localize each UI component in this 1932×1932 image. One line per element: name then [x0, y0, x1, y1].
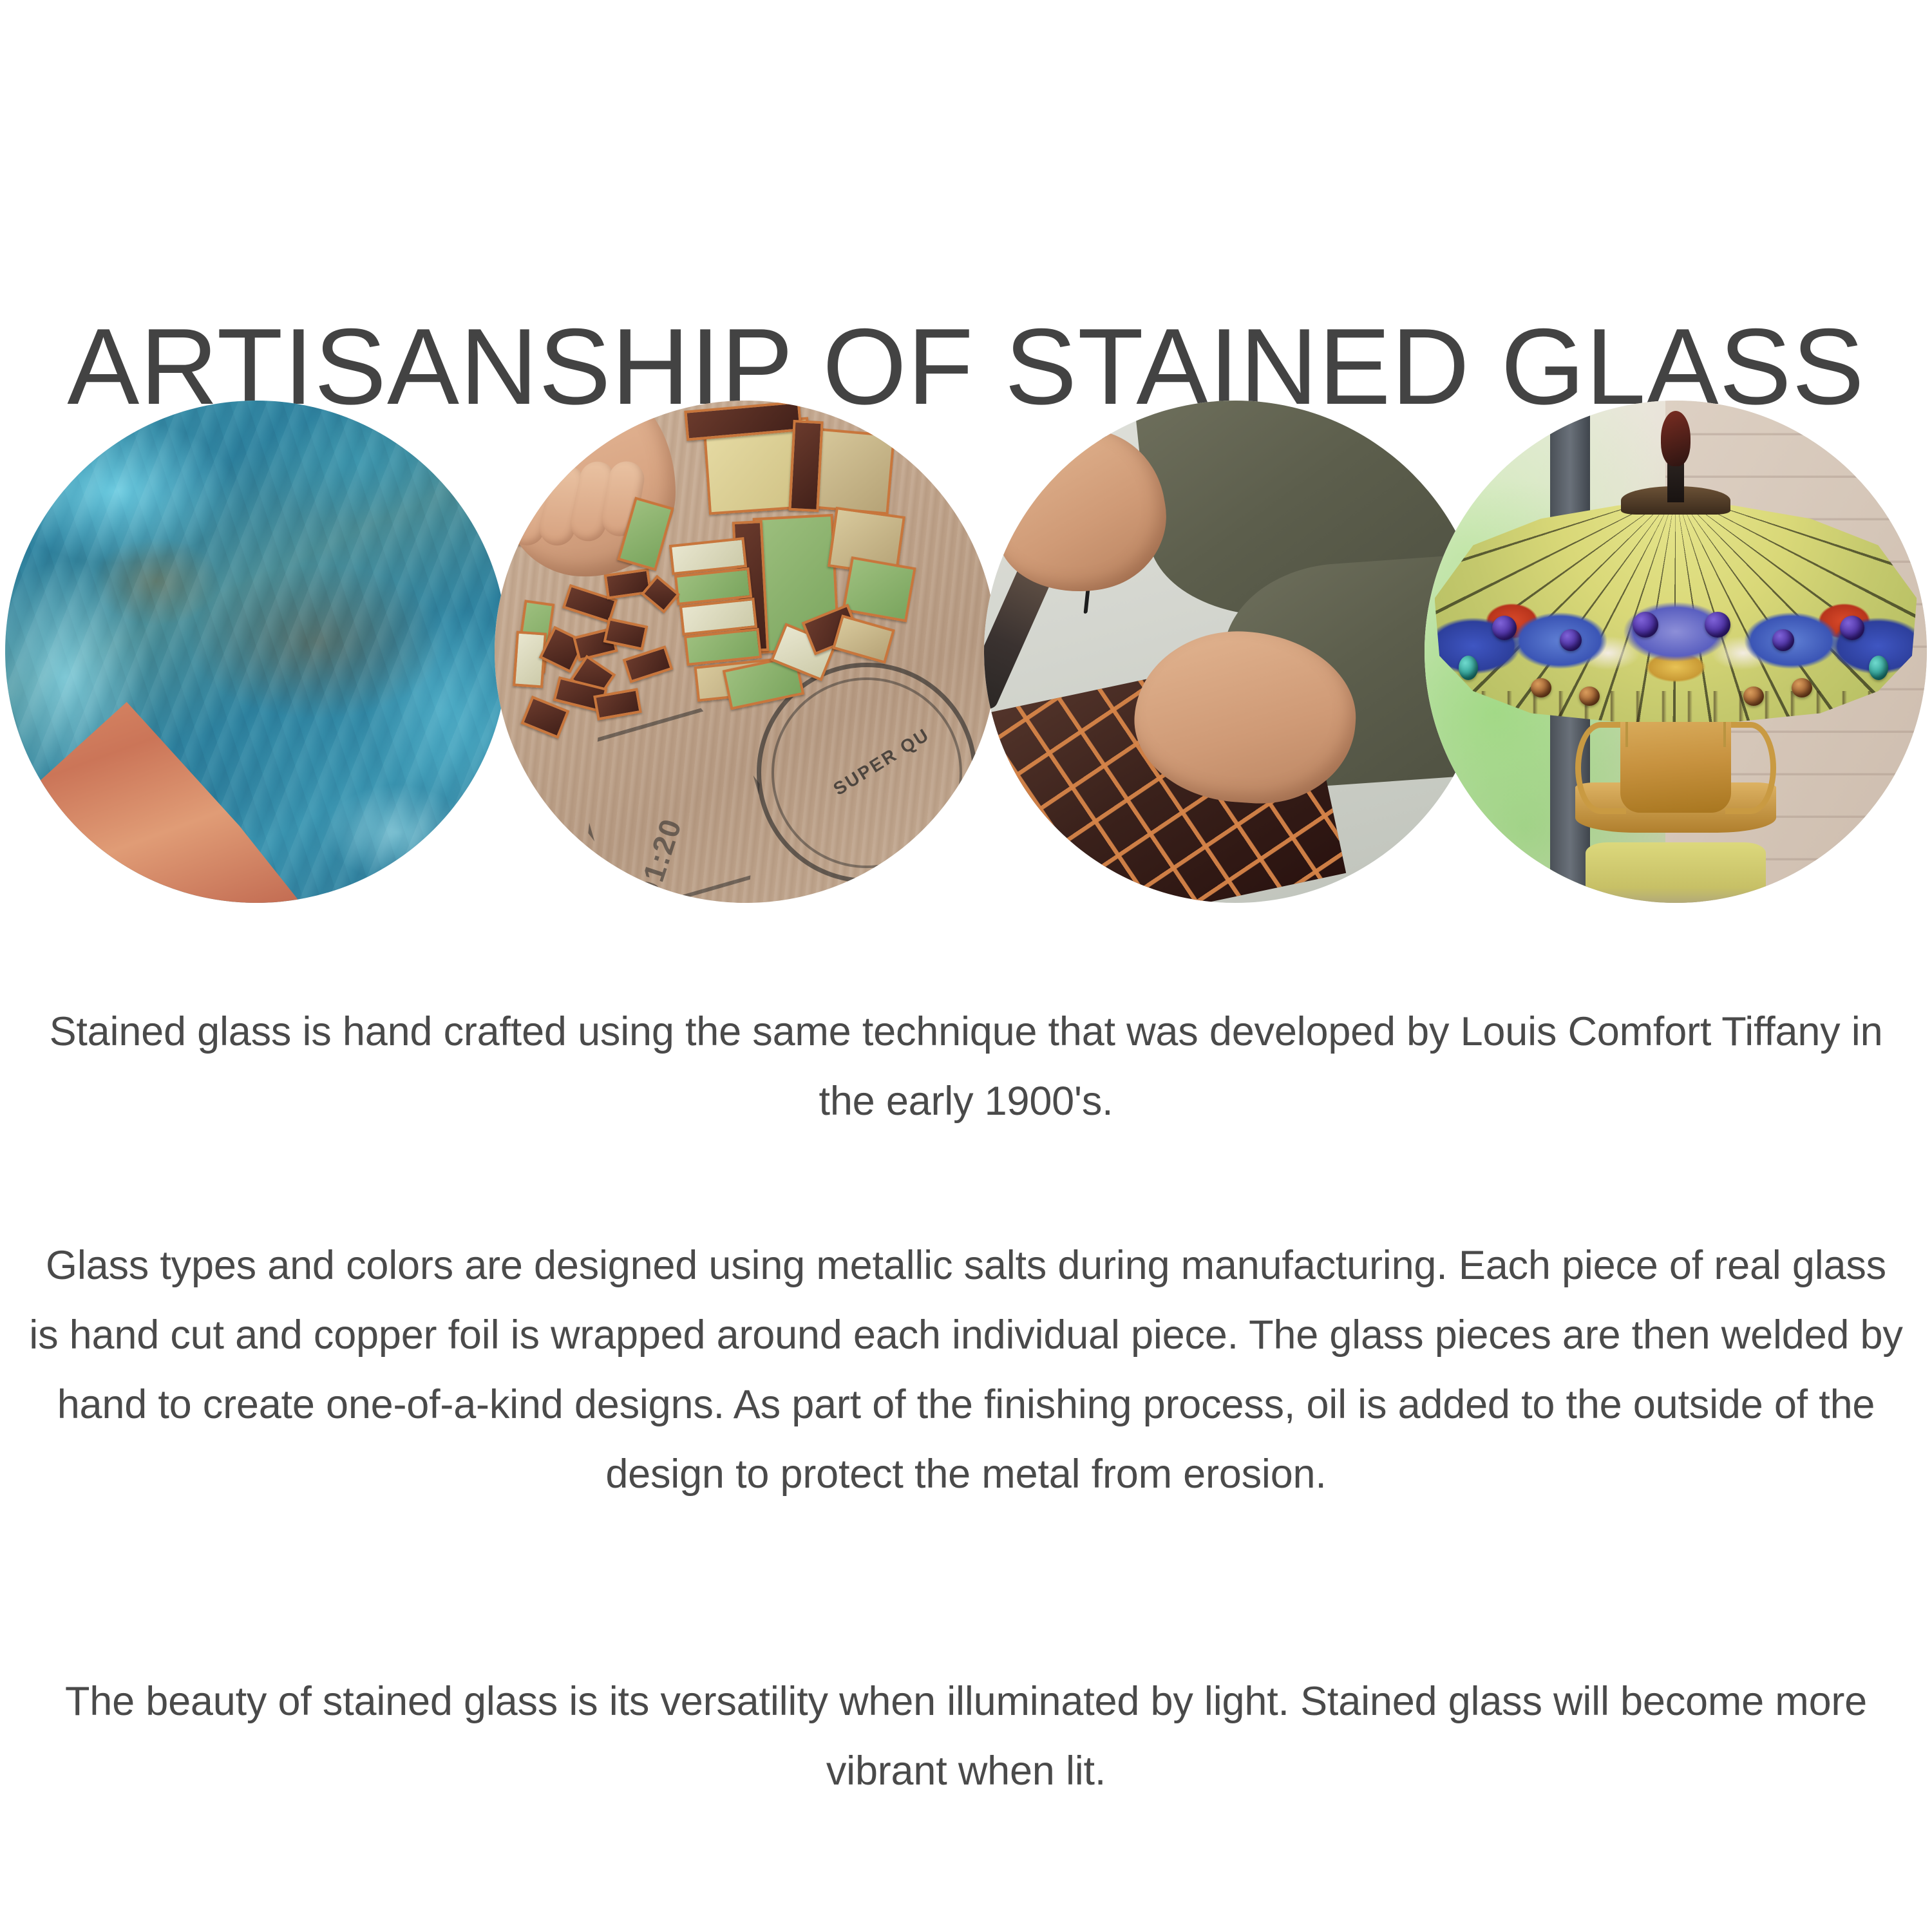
- gallery-image-blue-marbled-art-glass: [5, 401, 507, 903]
- glass-jewel: [1705, 612, 1730, 638]
- glass-jewel: [1792, 678, 1812, 697]
- lamp-base-handle-right: [1725, 722, 1776, 814]
- gallery-image-finished-tiffany-lamp: [1425, 401, 1927, 903]
- image-gallery: 9001:20 SUPER QU CH: [0, 401, 1932, 909]
- glass-jewel: [1531, 678, 1551, 697]
- paragraph-process: Glass types and colors are designed usin…: [26, 1231, 1906, 1509]
- glass-jewel: [1743, 687, 1764, 706]
- tiffany-lamp-scene: [1425, 401, 1927, 903]
- blue-glass-texture: [5, 401, 507, 903]
- stained-glass-shade: [1435, 501, 1917, 722]
- lamp-finial-neck: [1667, 461, 1684, 502]
- gallery-image-hand-soldering-panel: [984, 401, 1486, 903]
- paragraph-history: Stained glass is hand crafted using the …: [26, 997, 1906, 1136]
- gallery-image-copper-foiled-glass-pieces: 9001:20 SUPER QU CH: [495, 401, 997, 903]
- glass-piece: [513, 630, 547, 688]
- lamp-lower-shade: [1586, 842, 1766, 903]
- glass-jewel: [1633, 612, 1658, 638]
- glass-piece: [789, 420, 824, 512]
- lamp-finial: [1661, 411, 1690, 466]
- glass-jewel: [1840, 616, 1864, 640]
- shade-decorative-band: [1435, 598, 1917, 687]
- paragraph-beauty: The beauty of stained glass is its versa…: [26, 1667, 1906, 1806]
- infographic-page: ARTISANSHIP OF STAINED GLASS 9001:20 SUP…: [0, 0, 1932, 1932]
- workbench-scene: 9001:20 SUPER QU CH: [495, 401, 997, 903]
- lamp-base-handle-left: [1575, 722, 1626, 814]
- glass-jewel: [1772, 629, 1794, 651]
- soldering-scene: [984, 401, 1486, 903]
- glass-piece: [842, 556, 916, 621]
- glass-jewel: [1869, 656, 1888, 680]
